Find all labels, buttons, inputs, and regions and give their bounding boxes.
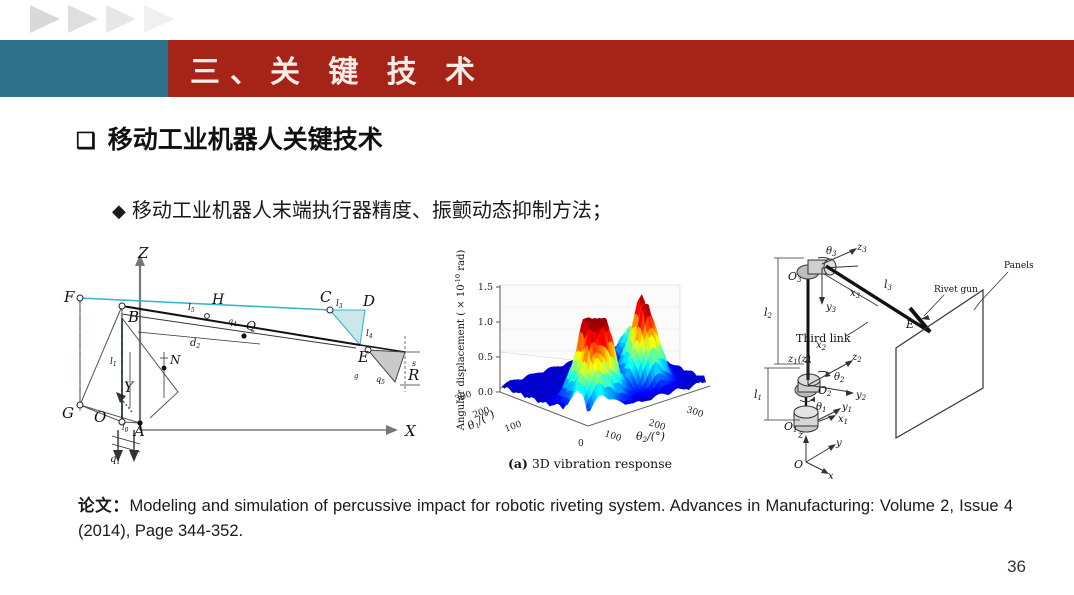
svg-text:x3: x3 [850,288,861,300]
svg-text:R: R [407,366,419,384]
svg-text:q5: q5 [376,375,385,386]
svg-text:z1(z): z1(z) [787,354,811,366]
svg-text:N: N [169,353,181,367]
svg-text:D: D [362,292,375,310]
svg-text:z2: z2 [851,352,862,364]
reference-text: Modeling and simulation of percussive im… [78,497,1013,540]
svg-text:q4: q4 [228,317,237,328]
reference-separator: ： [112,497,129,515]
svg-text:l2: l2 [764,306,773,320]
svg-text:x: x [828,471,834,480]
svg-text:(a) 3D vibration response: (a) 3D vibration response [508,456,672,471]
svg-text:Z: Z [137,244,149,262]
figure-kinematic-linkage: Z X Y F B C D E G O A H Q N R l5 l3 [60,240,445,480]
svg-text:0.5: 0.5 [478,352,493,363]
figure-3d-vibration-response: 1.5 1.0 0.5 0.0 300 200 100 0 [448,240,733,480]
title-band-red: 三、关 键 技 术 [168,40,1074,97]
square-bullet-icon: ❑ [76,130,96,152]
diamond-bullet-icon: ◆ [112,201,126,222]
svg-text:X: X [404,422,417,440]
svg-text:l3: l3 [336,299,343,310]
svg-text:100: 100 [504,419,524,434]
svg-text:C: C [320,288,332,306]
svg-text:l4: l4 [366,329,373,340]
svg-text:O2: O2 [818,384,832,398]
svg-text:l0: l0 [122,423,129,434]
svg-text:y2: y2 [855,390,867,402]
svg-text:E: E [357,348,369,366]
section-title: 三、关 键 技 术 [190,47,485,91]
svg-text:F: F [63,288,75,306]
svg-text:O: O [794,458,803,471]
svg-text:O: O [94,408,106,426]
svg-text:A: A [132,422,145,440]
svg-text:l5: l5 [188,303,195,314]
svg-text:Q: Q [246,319,256,333]
svg-text:1.0: 1.0 [478,317,493,328]
svg-text:x1: x1 [838,414,848,426]
svg-text:E: E [905,318,914,331]
svg-text:G: G [62,404,74,422]
heading-level-1: ❑移动工业机器人关键技术 [76,128,383,153]
svg-text:H: H [211,292,225,308]
svg-text:y3: y3 [825,302,837,314]
svg-text:θ2/(°): θ2/(°) [636,430,665,444]
svg-text:z: z [797,430,804,441]
heading-level-2: ◆移动工业机器人末端执行器精度、振颤动态抑制方法； [112,194,612,223]
svg-text:θ1: θ1 [816,402,827,414]
heading-2-text: 移动工业机器人末端执行器精度、振颤动态抑制方法； [132,200,612,222]
svg-text:y: y [835,438,842,449]
svg-text:z3: z3 [856,242,867,254]
figure-row: Z X Y F B C D E G O A H Q N R l5 l3 [60,240,1060,480]
svg-text:Third link: Third link [796,332,851,345]
reference-label: 论文 [78,497,112,515]
svg-text:300: 300 [685,405,705,420]
svg-text:l1: l1 [754,388,762,402]
svg-text:1.5: 1.5 [478,282,493,293]
svg-text:Rivet gun: Rivet gun [934,285,978,295]
svg-text:Angular displacement ( × 10-10: Angular displacement ( × 10-10 rad) [454,250,467,432]
svg-text:0.0: 0.0 [478,387,493,398]
svg-text:l3: l3 [884,278,893,292]
figure-robot-riveting-arm: O x y z O1 y1 x1 O2 z1(z) z2 y2 x2 O3 z3… [738,240,1060,480]
page-number: 36 [1007,557,1026,577]
svg-text:B: B [127,308,139,326]
svg-text:100: 100 [603,429,623,444]
title-band-teal [0,40,168,97]
svg-text:g: g [354,372,359,380]
svg-text:s: s [412,359,416,368]
svg-text:θ3: θ3 [826,246,837,258]
svg-text:0: 0 [578,439,584,449]
arrow-icon-2 [68,5,98,33]
reference-citation: 论文：Modeling and simulation of percussive… [78,494,1013,544]
svg-text:y1: y1 [841,402,852,414]
heading-1-text: 移动工业机器人关键技术 [108,126,383,154]
arrow-icon-3 [106,5,136,33]
svg-text:Panels: Panels [1004,261,1034,271]
svg-text:θ2: θ2 [834,372,845,384]
svg-text:Y: Y [124,380,135,396]
decorative-arrow-strip [0,0,1074,38]
svg-text:d2: d2 [190,338,200,350]
svg-text:l1: l1 [110,357,117,368]
slide-root: 三、关 键 技 术 ❑移动工业机器人关键技术 ◆移动工业机器人末端执行器精度、振… [0,0,1074,595]
arrow-icon-4 [144,5,174,33]
arrow-icon-1 [30,5,60,33]
